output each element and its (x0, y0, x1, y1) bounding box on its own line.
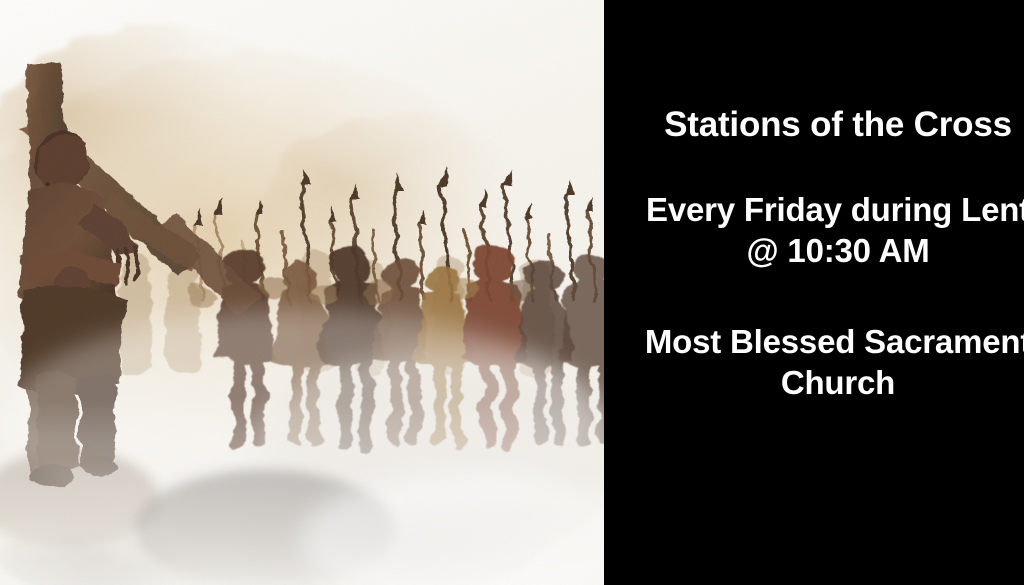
poster-canvas: Stations of the Cross Every Friday durin… (0, 0, 1024, 585)
venue-line-2: Church (604, 362, 1024, 403)
poster-title: Stations of the Cross (604, 105, 1024, 145)
schedule-spacer (604, 271, 1024, 321)
watercolor-illustration (0, 0, 604, 585)
announcement-text-block: Stations of the Cross Every Friday durin… (604, 0, 1024, 403)
artwork-panel (0, 0, 604, 585)
venue-line-1: Most Blessed Sacrament (604, 321, 1024, 362)
title-spacer (604, 145, 1024, 189)
schedule-line-1: Every Friday during Lent (604, 189, 1024, 230)
schedule-line-2: @ 10:30 AM (604, 230, 1024, 271)
text-panel: Stations of the Cross Every Friday durin… (604, 0, 1024, 585)
paper-grain (0, 0, 604, 585)
